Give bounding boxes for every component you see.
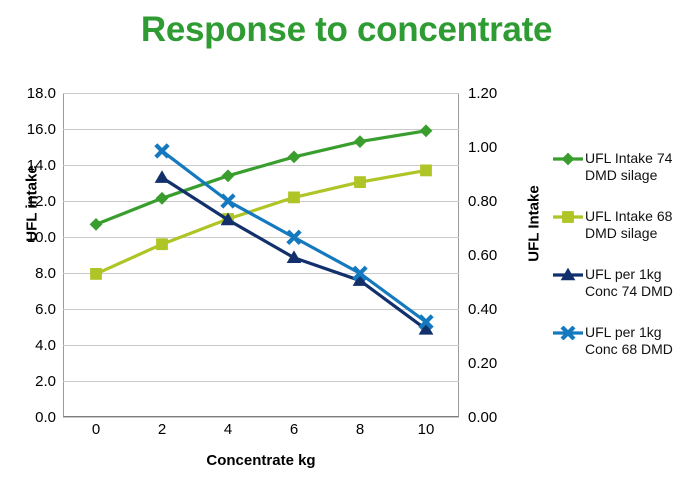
legend-item[interactable]: UFL per 1kg Conc 74 DMD	[552, 266, 693, 302]
x-axis-tick-label: 8	[356, 421, 364, 439]
y-axis-right-tick-label: 0.80	[468, 194, 497, 209]
legend-item-label: UFL per 1kg Conc 68 DMD	[585, 324, 693, 358]
data-point-marker	[420, 124, 433, 137]
y-axis-right-tick-label: 0.20	[468, 356, 497, 371]
data-point-marker	[156, 192, 169, 205]
y-axis-left-tick-label: 8.0	[35, 266, 56, 281]
square-marker	[552, 210, 584, 224]
y-axis-left-title: UFL intake	[24, 144, 41, 264]
y-axis-left-tick-label: 0.0	[35, 410, 56, 425]
data-point-marker	[288, 192, 300, 204]
x-marker	[552, 326, 584, 340]
y-axis-left-tick-label: 2.0	[35, 374, 56, 389]
x-axis-title: Concentrate kg	[63, 452, 459, 469]
legend-item[interactable]: UFL Intake 74 DMD silage	[552, 150, 693, 186]
page-title: Response to concentrate	[0, 8, 693, 52]
data-point-marker	[288, 231, 300, 243]
data-point-marker	[354, 176, 366, 188]
y-axis-right-tick-label: 1.20	[468, 86, 497, 101]
data-point-marker	[354, 135, 367, 148]
series-line	[96, 170, 426, 274]
data-point-marker	[420, 165, 432, 177]
x-axis-tick-label: 6	[290, 421, 298, 439]
y-axis-left-tick-label: 4.0	[35, 338, 56, 353]
diamond-marker	[552, 152, 584, 166]
y-axis-right-ticks: 1.201.000.800.600.400.200.00	[468, 93, 528, 417]
legend-item-label: UFL Intake 74 DMD silage	[585, 150, 693, 184]
data-point-marker	[288, 151, 301, 164]
y-axis-right-tick-label: 1.00	[468, 140, 497, 155]
triangle-marker	[552, 268, 584, 282]
y-axis-right-tick-label: 0.60	[468, 248, 497, 263]
x-axis-tick-label: 4	[224, 421, 232, 439]
series-2	[90, 165, 432, 280]
data-point-marker	[90, 268, 102, 280]
series-canvas	[63, 93, 459, 417]
legend-item[interactable]: UFL Intake 68 DMD silage	[552, 208, 693, 244]
x-axis-tick-label: 0	[92, 421, 100, 439]
chart-legend: UFL Intake 74 DMD silageUFL Intake 68 DM…	[552, 150, 693, 382]
data-point-marker	[156, 145, 168, 157]
data-point-marker	[155, 170, 170, 183]
legend-item[interactable]: UFL per 1kg Conc 68 DMD	[552, 324, 693, 360]
x-axis-tick-label: 2	[158, 421, 166, 439]
y-axis-left-tick-label: 18.0	[27, 86, 56, 101]
series-4	[156, 145, 432, 328]
legend-item-label: UFL per 1kg Conc 74 DMD	[585, 266, 693, 300]
y-axis-right-tick-label: 0.00	[468, 410, 497, 425]
x-axis-tick-label: 10	[418, 421, 435, 439]
y-axis-right-title: UFL Intake	[526, 164, 543, 284]
data-point-marker	[90, 218, 103, 231]
data-point-marker	[222, 195, 234, 207]
y-axis-right-tick-label: 0.40	[468, 302, 497, 317]
data-point-marker	[222, 169, 235, 182]
y-axis-left-tick-label: 6.0	[35, 302, 56, 317]
x-axis-ticks: 0246810	[63, 421, 459, 443]
chart-root: Response to concentrate 18.016.014.012.0…	[0, 0, 693, 483]
y-axis-left-tick-label: 16.0	[27, 122, 56, 137]
data-point-marker	[156, 238, 168, 250]
data-point-marker	[287, 250, 302, 263]
legend-item-label: UFL Intake 68 DMD silage	[585, 208, 693, 242]
plot-area	[63, 93, 459, 417]
gridline	[63, 417, 459, 418]
